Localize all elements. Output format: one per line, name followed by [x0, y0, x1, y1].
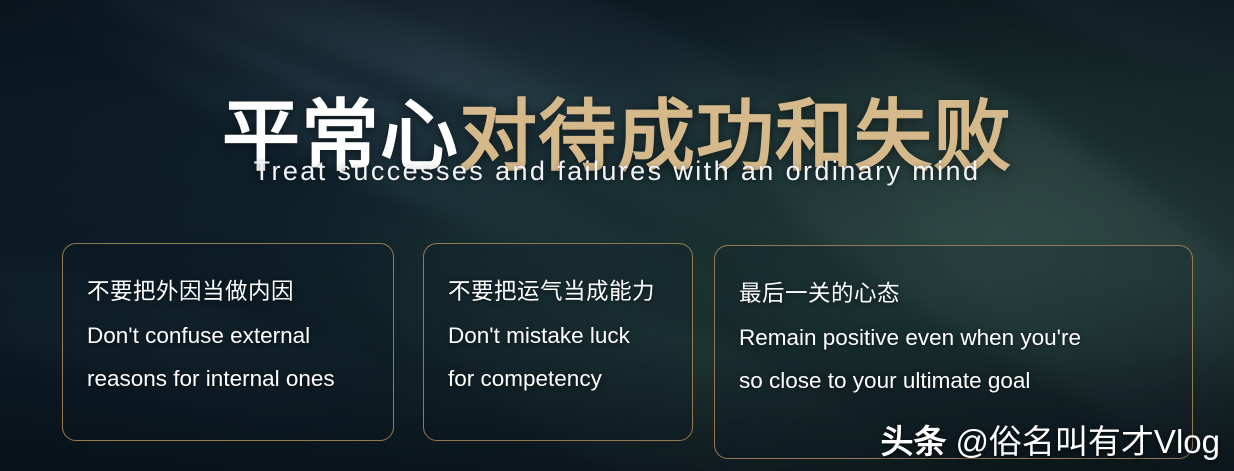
tip-card-3-cn: 最后一关的心态 [739, 272, 1168, 316]
watermark: 头条 @俗名叫有才Vlog [880, 415, 1220, 463]
slide-canvas: 平常心对待成功和失败 Treat successes and failures … [0, 0, 1234, 471]
tip-card-1-cn: 不要把外因当做内因 [87, 270, 369, 314]
tip-card-2-en-line-2: for competency [448, 357, 668, 401]
tip-card-2: 不要把运气当成能力 Don't mistake luck for compete… [423, 243, 693, 441]
tip-card-2-en-line-1: Don't mistake luck [448, 314, 668, 358]
tip-card-2-cn: 不要把运气当成能力 [448, 270, 668, 314]
tip-card-3-en-line-2: so close to your ultimate goal [739, 359, 1168, 403]
tip-card-1-en-line-1: Don't confuse external [87, 314, 369, 358]
watermark-brand: 头条 [880, 415, 946, 463]
tip-card-3-en-line-1: Remain positive even when you're [739, 316, 1168, 360]
watermark-handle: @俗名叫有才Vlog [955, 415, 1220, 463]
tip-card-1-en-line-2: reasons for internal ones [87, 357, 369, 401]
tip-card-1: 不要把外因当做内因 Don't confuse external reasons… [62, 243, 394, 441]
page-subtitle: Treat successes and failures with an ord… [0, 156, 1234, 187]
